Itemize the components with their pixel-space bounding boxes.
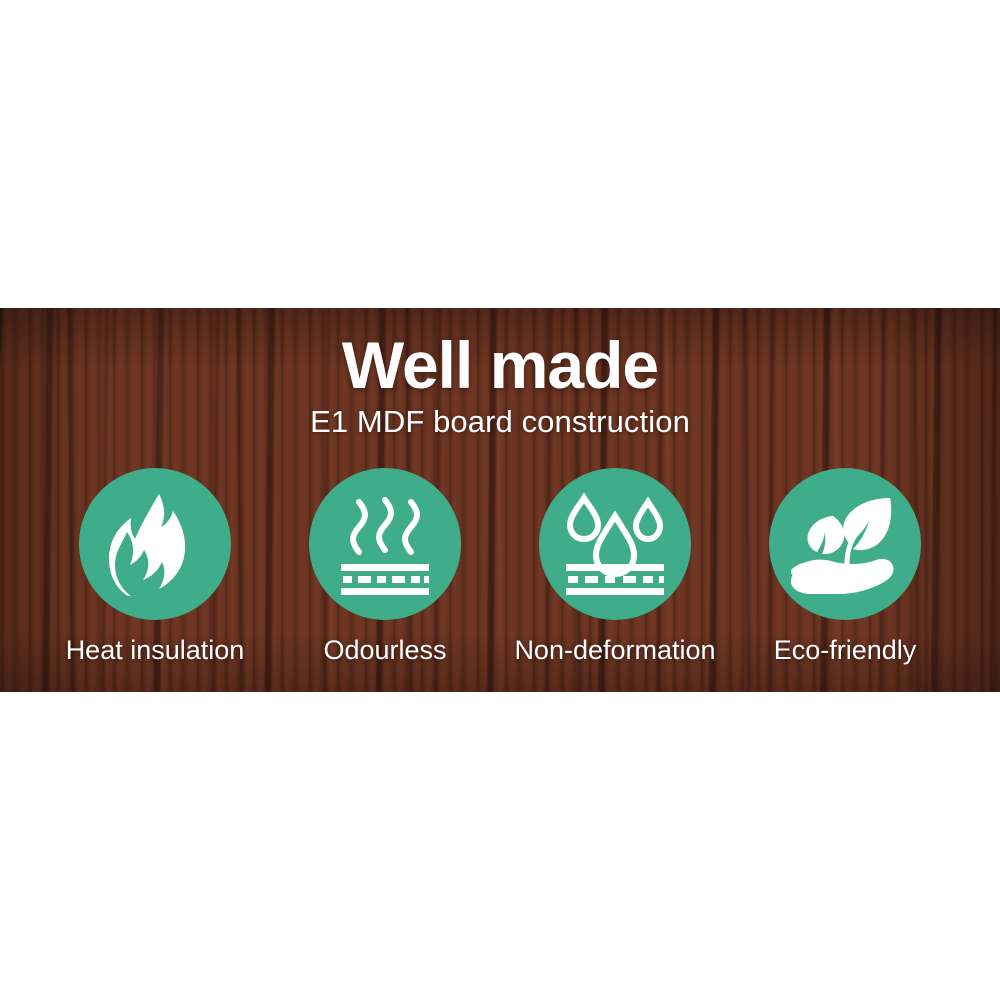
banner-subtitle: E1 MDF board construction (0, 404, 1000, 440)
feature-eco-friendly[interactable]: Eco-friendly (730, 468, 960, 666)
banner-title: Well made (0, 330, 1000, 400)
feature-list: Heat insulation (40, 468, 960, 666)
feature-heat-insulation[interactable]: Heat insulation (40, 468, 270, 666)
page-canvas: Well made E1 MDF board construction Heat… (0, 0, 1000, 1000)
feature-label: Odourless (323, 634, 446, 666)
hand-leaf-icon (789, 494, 901, 594)
feature-label: Non-deformation (514, 634, 715, 666)
flame-icon (107, 492, 203, 596)
feature-label: Eco-friendly (774, 634, 917, 666)
wood-banner: Well made E1 MDF board construction Heat… (0, 308, 1000, 692)
feature-icon-circle (539, 468, 691, 620)
water-drops-icon (562, 492, 668, 596)
feature-icon-circle (79, 468, 231, 620)
odour-waves-icon (333, 492, 437, 596)
feature-label: Heat insulation (66, 634, 245, 666)
feature-odourless[interactable]: Odourless (270, 468, 500, 666)
feature-non-deformation[interactable]: Non-deformation (500, 468, 730, 666)
banner-headings: Well made E1 MDF board construction (0, 330, 1000, 440)
feature-icon-circle (769, 468, 921, 620)
feature-icon-circle (309, 468, 461, 620)
